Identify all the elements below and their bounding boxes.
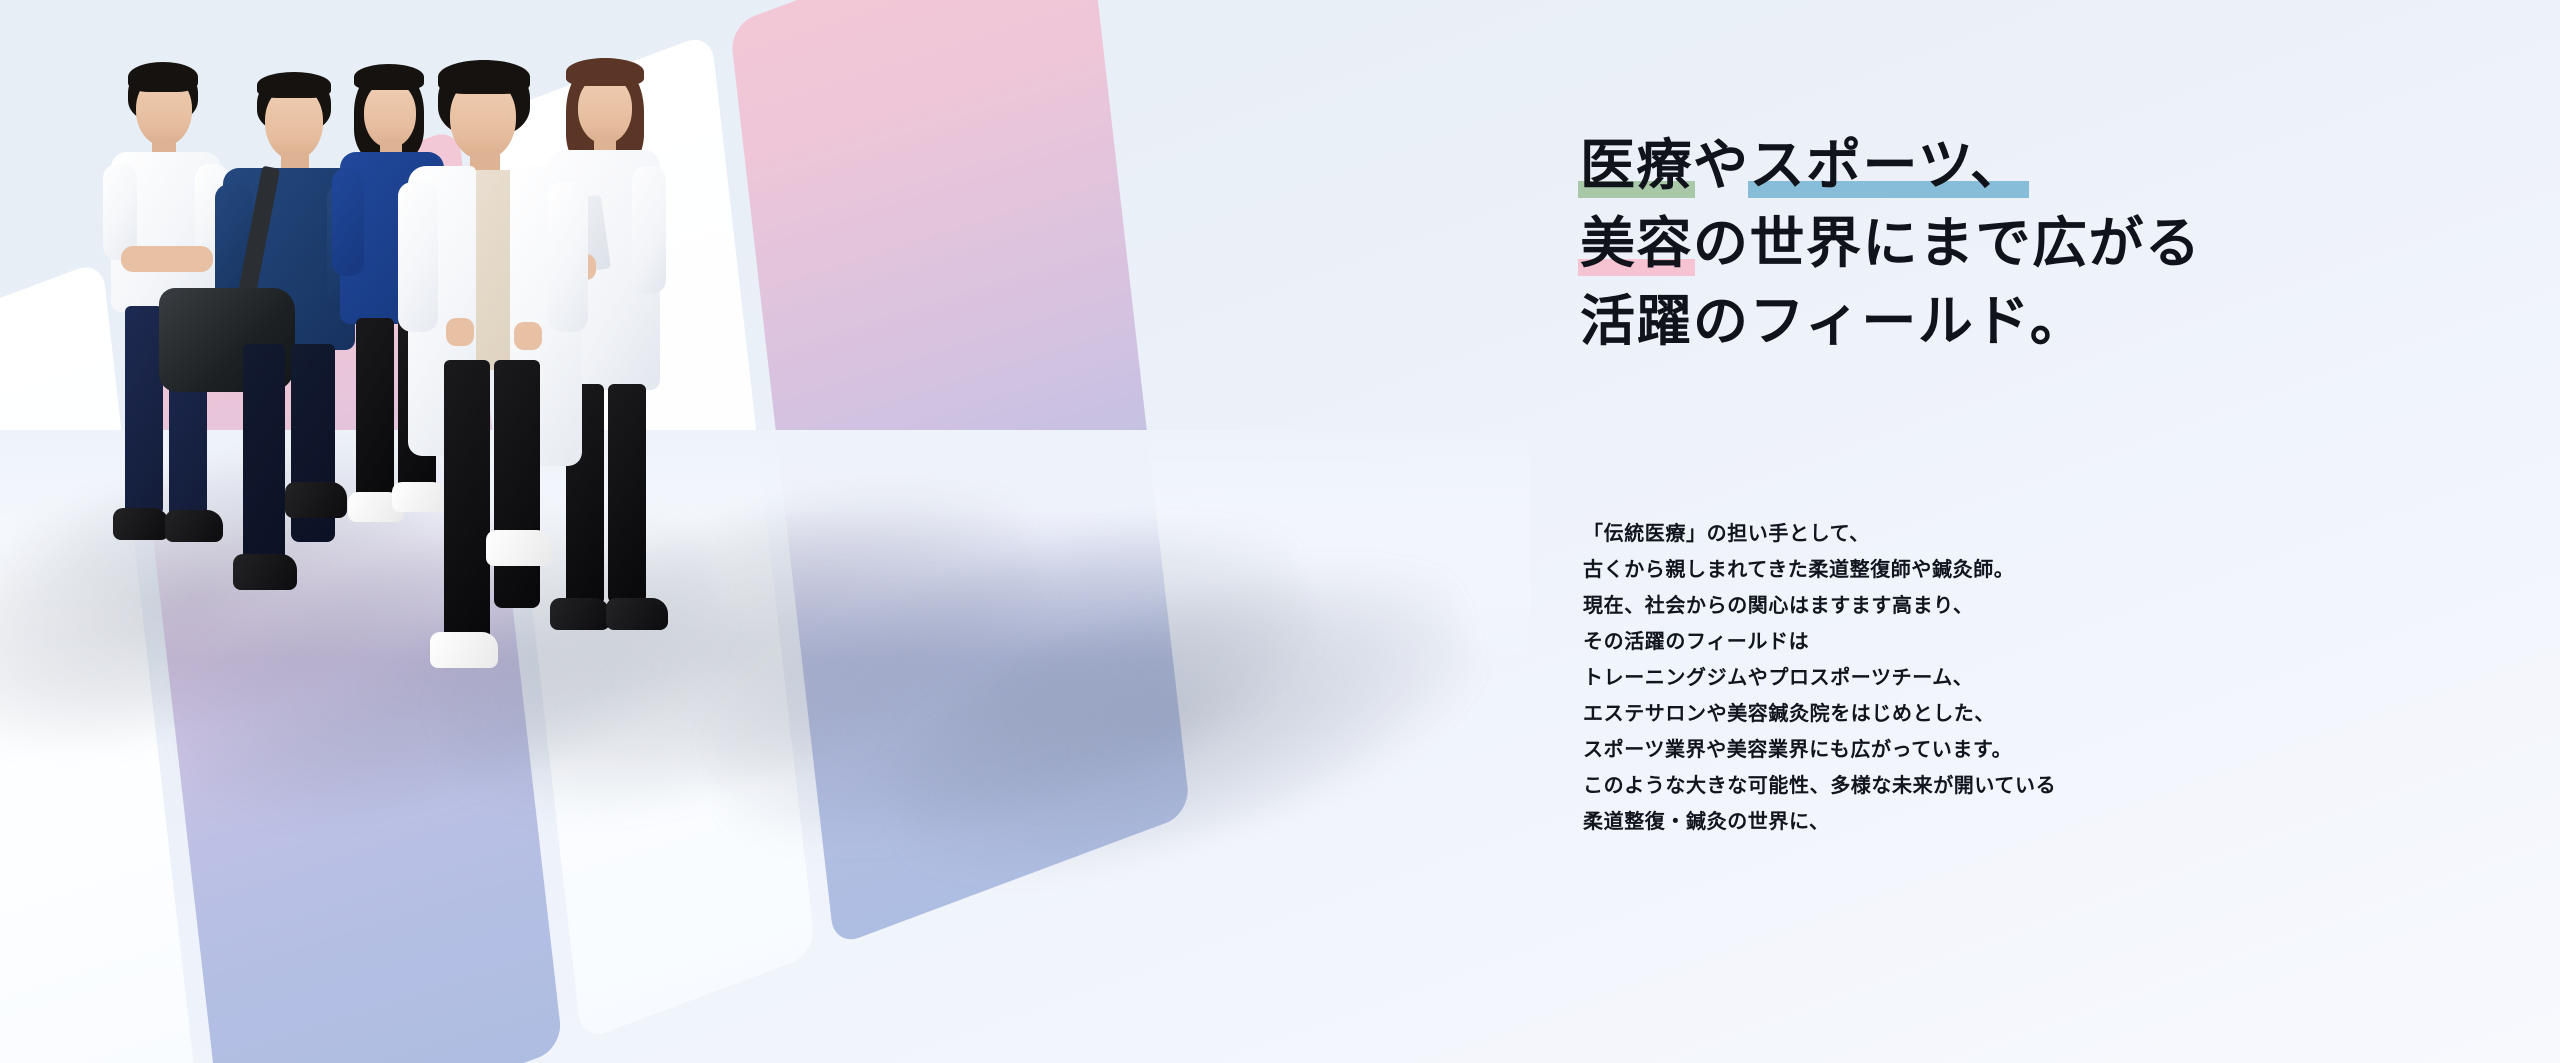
- page-title: 医療やスポーツ、 美容の世界にまで広がる 活躍のフィールド。: [1580, 126, 2202, 360]
- shoe-left: [233, 554, 297, 590]
- leg-left: [356, 318, 394, 504]
- description-line: トレーニングジムやプロスポーツチーム、: [1583, 660, 2056, 696]
- hand-left: [446, 318, 474, 346]
- description-line: 柔道整復・鍼灸の世界に、: [1583, 804, 2056, 840]
- shoe-left: [430, 632, 498, 668]
- person-labcoat-male: [398, 60, 658, 880]
- headline-line-3: 活躍のフィールド。: [1580, 282, 2202, 360]
- hero-photo: [0, 0, 1530, 1063]
- shoe-left: [113, 508, 169, 540]
- leg-right: [494, 360, 540, 608]
- description-line: 現在、社会からの関心はますます高まり、: [1583, 588, 2056, 624]
- headline-highlight-sports: スポーツ、: [1750, 126, 2027, 204]
- shoe-right: [486, 530, 552, 566]
- headline-plain-2: の世界にまで広がる: [1693, 212, 2202, 274]
- hair-front: [128, 62, 198, 92]
- arm-left: [332, 168, 364, 276]
- crossed-arms: [121, 246, 213, 272]
- headline-highlight-beauty: 美容: [1580, 204, 1693, 282]
- description-line: 「伝統医療」の担い手として、: [1583, 516, 2056, 552]
- description-line: スポーツ業界や美容業界にも広がっています。: [1583, 732, 2056, 768]
- hair-front: [257, 72, 331, 98]
- description-line: エステサロンや美容鍼灸院をはじめとした、: [1583, 696, 2056, 732]
- hero-description: 「伝統医療」の担い手として、 古くから親しまれてきた柔道整復師や鍼灸師。 現在、…: [1583, 516, 2056, 840]
- headline-plain-3: 活躍のフィールド。: [1580, 290, 2086, 352]
- hero-section: 医療やスポーツ、 美容の世界にまで広がる 活躍のフィールド。 「伝統医療」の担い…: [0, 0, 2560, 1063]
- headline-highlight-medical: 医療: [1580, 126, 1693, 204]
- headline-plain-1: や: [1693, 134, 1750, 196]
- arm-right: [548, 182, 588, 332]
- description-line: このような大きな可能性、多様な未来が開いている: [1583, 768, 2056, 804]
- description-line: 古くから親しまれてきた柔道整復師や鍼灸師。: [1583, 552, 2056, 588]
- leg-left: [444, 360, 490, 642]
- leg-left: [243, 344, 285, 566]
- headline-line-2: 美容の世界にまで広がる: [1580, 204, 2202, 282]
- leg-left: [125, 306, 163, 516]
- description-line: その活躍のフィールドは: [1583, 624, 2056, 660]
- headline-line-1: 医療やスポーツ、: [1580, 126, 2202, 204]
- arm-left: [398, 182, 438, 332]
- hero-copy: 医療やスポーツ、 美容の世界にまで広がる 活躍のフィールド。 「伝統医療」の担い…: [1580, 0, 2520, 1063]
- hair-front: [438, 60, 530, 94]
- hand-right: [514, 322, 542, 350]
